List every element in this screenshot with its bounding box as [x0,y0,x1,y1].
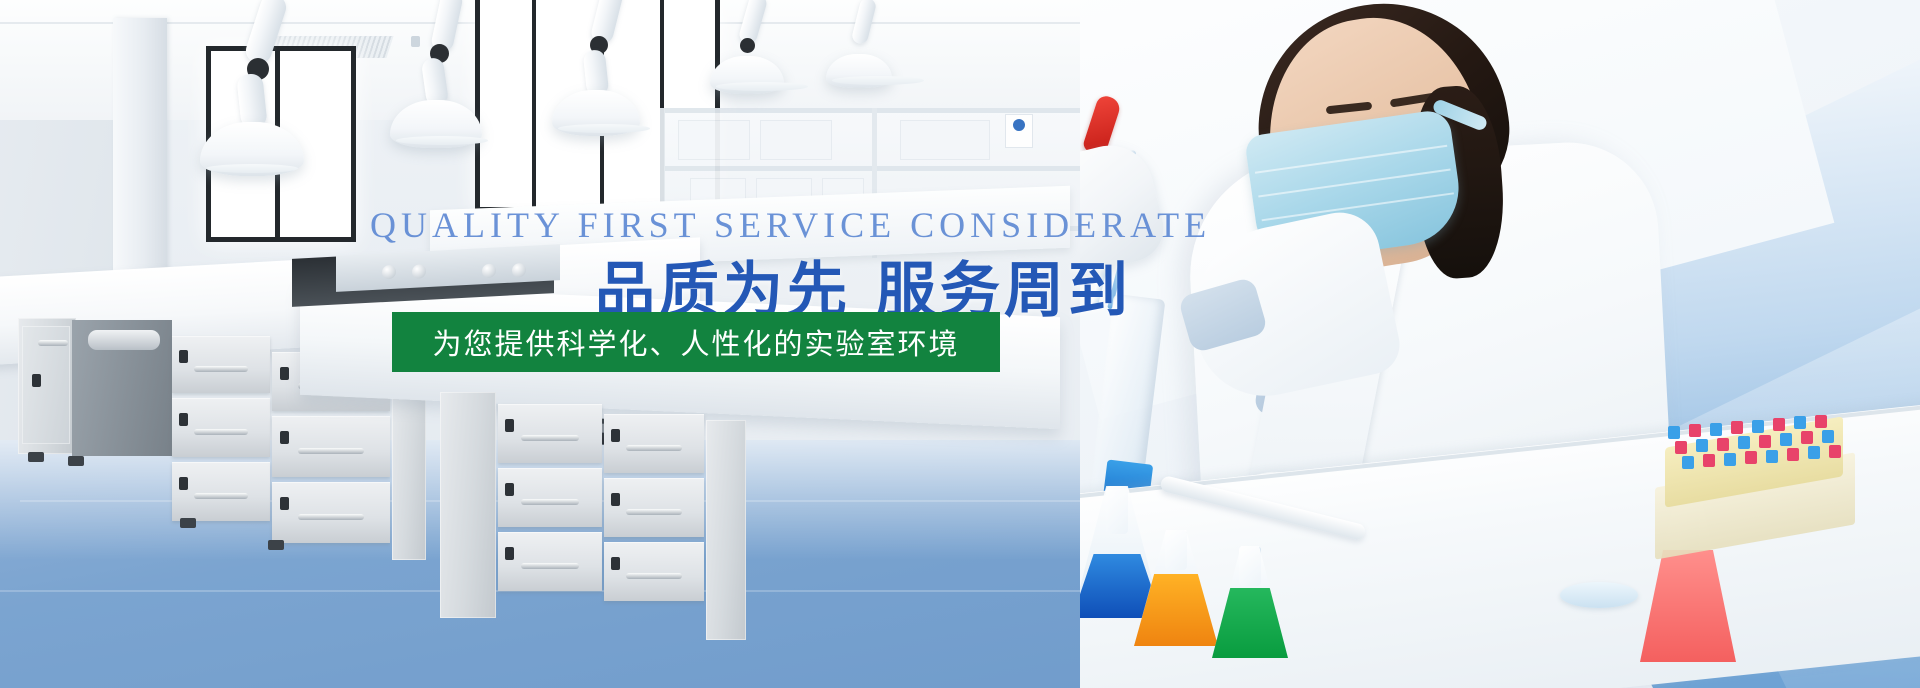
mask-pleat [1255,145,1447,174]
window-mullion [532,0,536,207]
drawer-handle [298,514,364,520]
drawer-handle [194,366,249,372]
shelf-box [760,120,832,160]
pipette-tip [1738,436,1750,449]
pipette-tip [1801,431,1813,444]
drawer-handle [626,573,682,579]
pipette-tip [1731,421,1743,434]
pipette-tip [1724,453,1736,466]
drawer-lock-icon [179,350,188,363]
drawer-lock-icon [179,413,188,426]
drawer-handle [626,445,682,451]
drawer-handle [521,563,579,569]
cabinet-caster [180,518,196,528]
erlenmeyer-flask-orange [1134,530,1218,646]
drawer [272,416,390,477]
drawer [498,468,602,527]
mask-pleat [1258,169,1450,198]
drawer [604,414,704,473]
island-cabinet-side [440,392,496,618]
drawer-handle [626,509,682,515]
drawer-lock-icon [280,497,289,510]
drawer-lock-icon [505,547,514,560]
drawer-handle [298,448,364,454]
drawer [172,462,270,521]
drawer [498,404,602,463]
sink-knob [382,265,396,280]
sink-knob [412,264,426,279]
pipette-tip [1766,450,1778,463]
sink-knob [512,263,526,278]
drawer-lock-icon [611,429,620,442]
drawer [172,336,270,393]
island-cabinet-side [706,420,746,640]
drawer [604,478,704,537]
drawer-lock-icon [179,477,188,490]
pipette-tip [1752,420,1764,433]
erlenmeyer-flask-green [1212,546,1288,658]
drawer-lock-icon [611,493,620,506]
petri-dish [1560,582,1638,608]
laboratory-scene-image [0,0,1250,688]
ceiling-sprinkler-icon [411,36,420,47]
pipette-tip [1696,439,1708,452]
cabinet-caster [268,540,284,550]
pipette-tip [1745,451,1757,464]
drawer [604,542,704,601]
extraction-joint [740,38,755,53]
drawer-lock-icon [505,483,514,496]
cabinet-lock-icon [32,374,41,387]
shelf-safety-label [1005,114,1033,148]
hero-banner: QUALITY FIRST SERVICE CONSIDERATE 品质为先 服… [0,0,1920,688]
drawer-lock-icon [280,431,289,444]
pipette-tip [1668,426,1680,439]
drawer-handle [194,493,249,499]
pipette-tip [1822,430,1834,443]
drawer-handle [521,435,579,441]
pipette-tip [1675,441,1687,454]
pipette-tip [1808,446,1820,459]
pipette-tip [1717,438,1729,451]
drawer [498,532,602,591]
cabinet-handle [38,340,68,346]
drawer-handle [521,499,579,505]
cabinet-caster [28,452,44,462]
drawer [172,398,270,457]
pipette-tip [1780,433,1792,446]
drawer-lock-icon [505,419,514,432]
flask-liquid [1134,574,1218,646]
shelf-box [900,120,990,160]
pipette-tip [1787,448,1799,461]
pipette-tip [1703,454,1715,467]
shelf-box [678,120,750,160]
pipette-tip [1682,456,1694,469]
drawer-lock-icon [280,367,289,380]
flask-liquid [1212,588,1288,658]
pipette-tip [1829,445,1841,458]
scientist-photo [1080,0,1920,688]
sink-knob [482,263,496,278]
cabinet-caster [68,456,84,466]
drawer [272,482,390,543]
flask-liquid [1640,550,1736,662]
pull-out-shelf-handle [88,330,160,350]
pipette-tip [1773,418,1785,431]
cabinet-door [22,326,70,444]
drawer-lock-icon [611,557,620,570]
pipette-tip [1794,416,1806,429]
safety-badge-icon [1013,119,1025,131]
pipette-tip [1710,423,1722,436]
pipette-tip [1689,424,1701,437]
drawer-handle [194,429,249,435]
pipette-tip [1759,435,1771,448]
pipette-tip [1815,415,1827,428]
